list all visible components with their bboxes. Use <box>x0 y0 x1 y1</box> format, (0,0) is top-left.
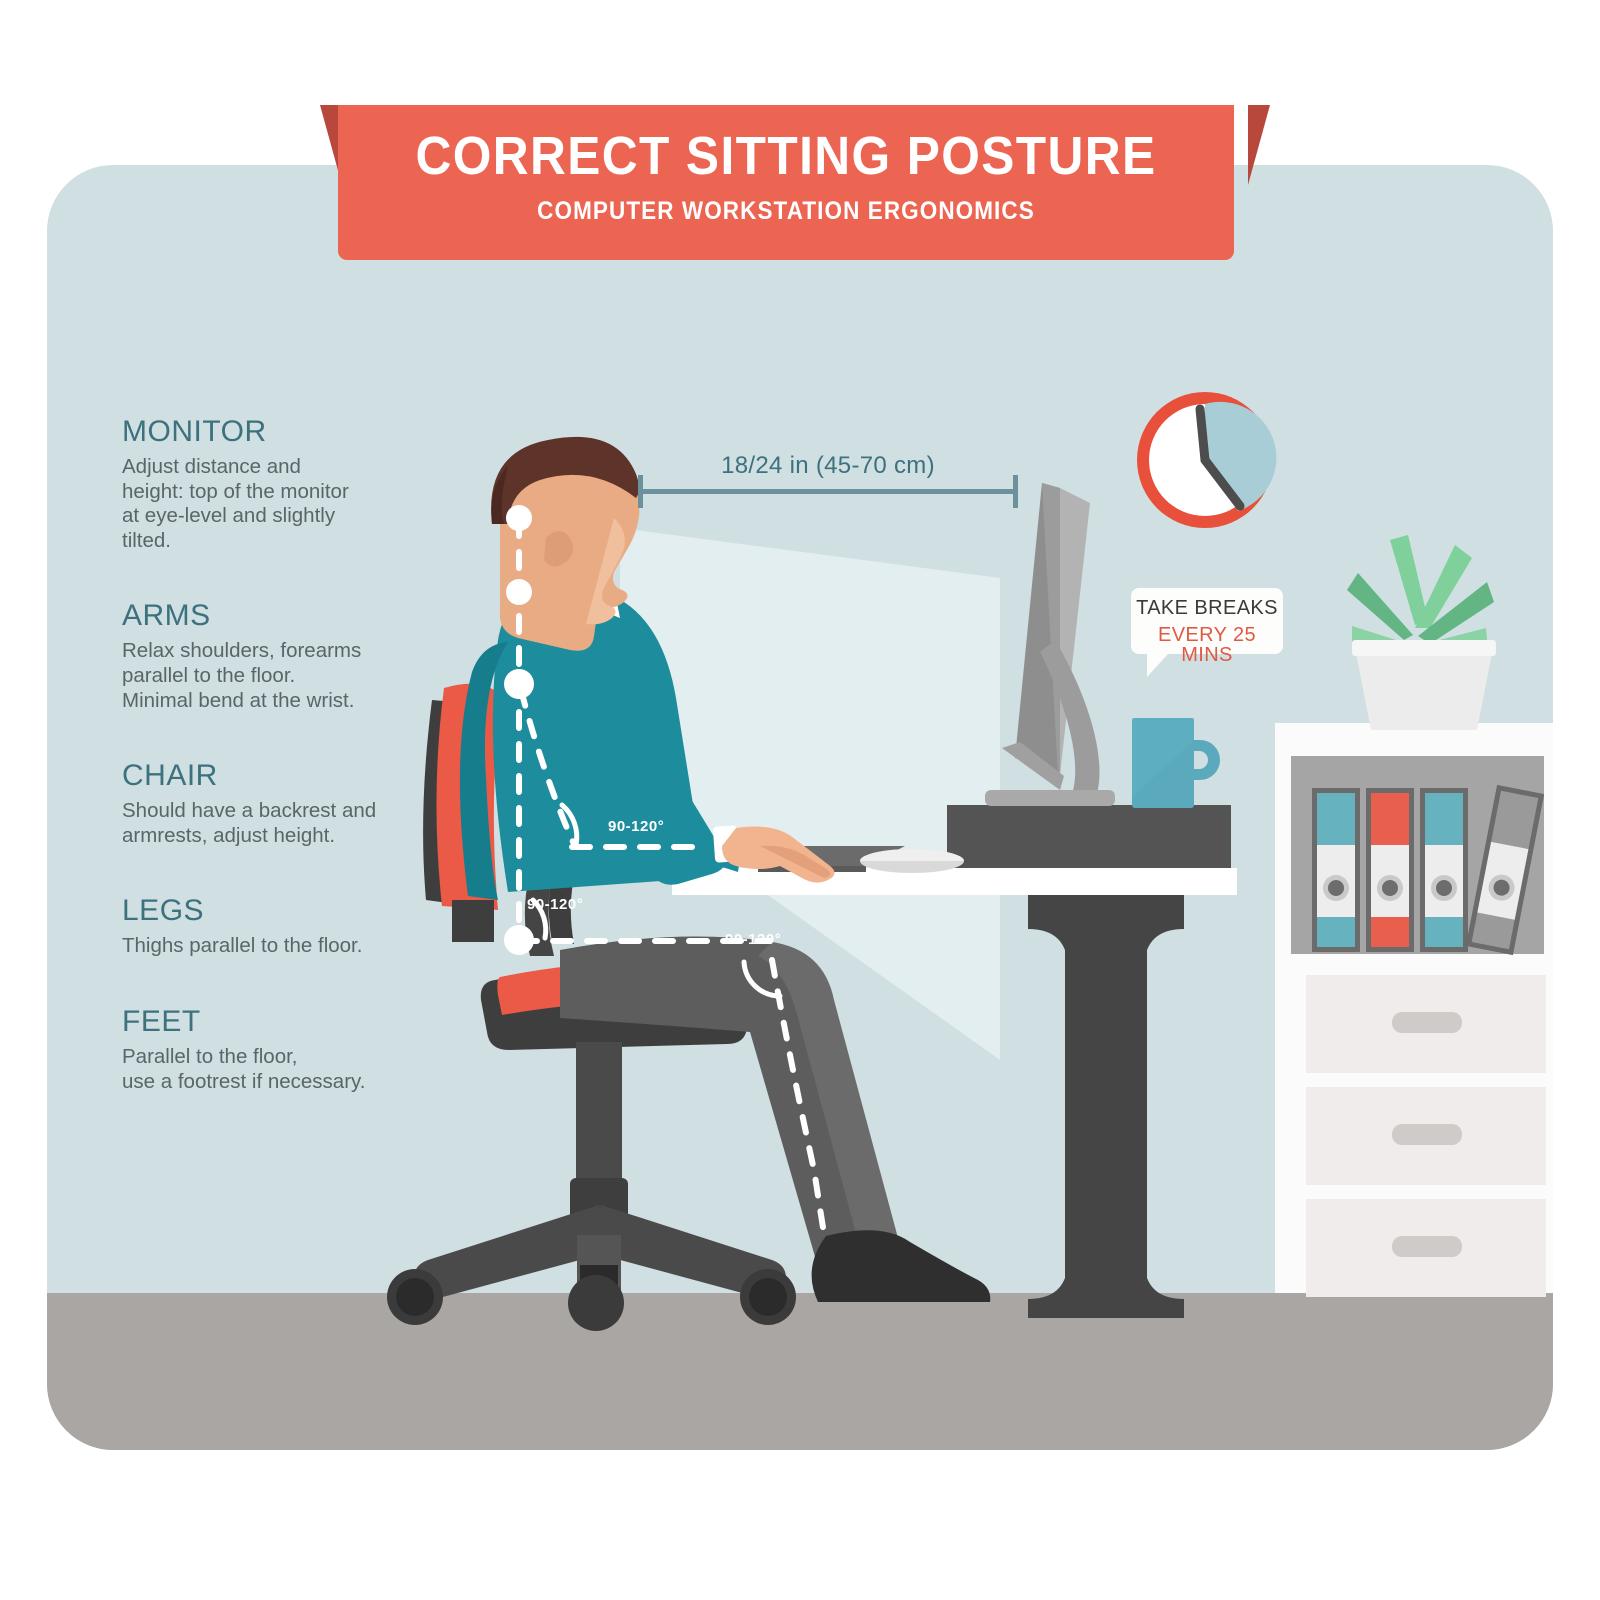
page-title: CORRECT SITTING POSTURE <box>374 105 1198 183</box>
angle-label-knee: 90-120° <box>725 931 781 948</box>
potted-plant <box>1347 535 1496 730</box>
page-subtitle: COMPUTER WORKSTATION ERGONOMICS <box>383 183 1189 224</box>
break-reminder-bubble: TAKE BREAKS EVERY 25 MINS <box>1131 588 1283 654</box>
tip-feet: FEET Parallel to the floor, use a footre… <box>122 1005 422 1094</box>
shelf-unit <box>1275 723 1560 1297</box>
tip-legs: LEGS Thighs parallel to the floor. <box>122 894 422 959</box>
infographic-root: CORRECT SITTING POSTURE COMPUTER WORKSTA… <box>0 0 1600 1600</box>
monitor-distance-line <box>638 489 1018 491</box>
angle-label-hip: 90-120° <box>527 896 583 913</box>
drawer <box>1306 975 1546 1073</box>
tip-heading: LEGS <box>122 894 422 928</box>
binder <box>1420 788 1468 952</box>
tip-heading: FEET <box>122 1005 422 1039</box>
tip-body: Should have a backrest and armrests, adj… <box>122 799 422 848</box>
binder <box>1312 788 1360 952</box>
desk-riser <box>947 805 1231 877</box>
drawer <box>1306 1199 1546 1297</box>
tip-monitor: MONITOR Adjust distance and height: top … <box>122 415 422 553</box>
monitor-distance-label: 18/24 in (45-70 cm) <box>638 452 1018 480</box>
desk-top <box>672 868 1237 895</box>
tip-body: Adjust distance and height: top of the m… <box>122 455 422 553</box>
shoe <box>812 1230 991 1302</box>
mouse <box>860 849 964 873</box>
angle-label-elbow: 90-120° <box>608 818 664 835</box>
tip-body: Relax shoulders, forearms parallel to th… <box>122 639 422 713</box>
tip-chair: CHAIR Should have a backrest and armrest… <box>122 759 422 848</box>
tip-heading: CHAIR <box>122 759 422 793</box>
drawer <box>1306 1087 1546 1185</box>
bubble-tail <box>1147 653 1169 677</box>
wall-clock <box>1137 392 1276 528</box>
ribbon-fold-right <box>1248 105 1270 185</box>
tip-heading: ARMS <box>122 599 422 633</box>
binder <box>1366 788 1414 952</box>
tip-arms: ARMS Relax shoulders, forearms parallel … <box>122 599 422 713</box>
coffee-mug <box>1132 718 1220 808</box>
tip-body: Parallel to the floor, use a footrest if… <box>122 1045 422 1094</box>
tip-body: Thighs parallel to the floor. <box>122 934 422 959</box>
reminder-line-1: TAKE BREAKS <box>1131 588 1283 618</box>
tip-heading: MONITOR <box>122 415 422 449</box>
monitor <box>985 483 1115 806</box>
title-ribbon: CORRECT SITTING POSTURE COMPUTER WORKSTA… <box>0 96 1600 276</box>
tips-list: MONITOR Adjust distance and height: top … <box>122 415 422 1140</box>
